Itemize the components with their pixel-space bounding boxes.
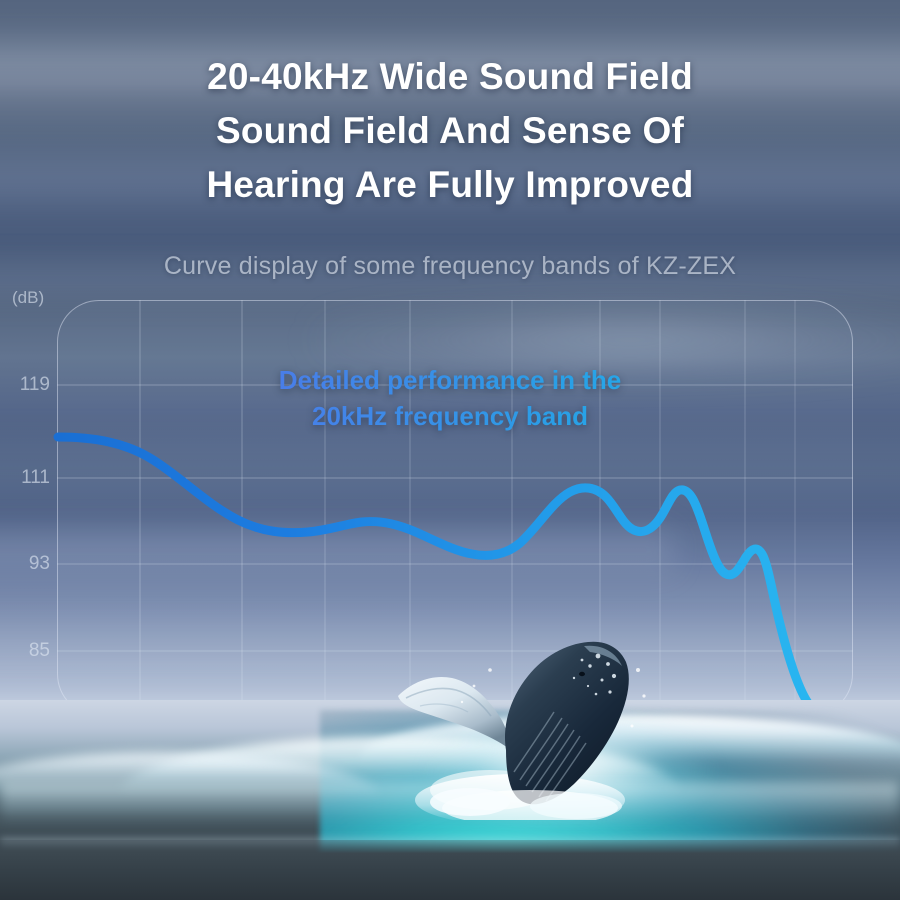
headline-line-3: Hearing Are Fully Improved xyxy=(0,158,900,212)
headline-line-1: 20-40kHz Wide Sound Field xyxy=(0,50,900,104)
y-axis-unit-label: (dB) xyxy=(12,288,44,308)
promo-banner: 20-40kHz Wide Sound Field Sound Field An… xyxy=(0,0,900,900)
y-tick-111: 111 xyxy=(0,467,50,489)
beach-sand xyxy=(0,840,900,900)
callout-line-1: Detailed performance in the xyxy=(0,362,900,398)
y-tick-93: 93 xyxy=(0,553,50,575)
chart-subtitle: Curve display of some frequency bands of… xyxy=(0,252,900,281)
headline-line-2: Sound Field And Sense Of xyxy=(0,104,900,158)
callout-line-2: 20kHz frequency band xyxy=(0,398,900,434)
curve-callout: Detailed performance in the 20kHz freque… xyxy=(0,362,900,434)
headline: 20-40kHz Wide Sound Field Sound Field An… xyxy=(0,50,900,212)
y-tick-85: 85 xyxy=(0,640,50,662)
humpback-whale-image xyxy=(370,630,670,820)
